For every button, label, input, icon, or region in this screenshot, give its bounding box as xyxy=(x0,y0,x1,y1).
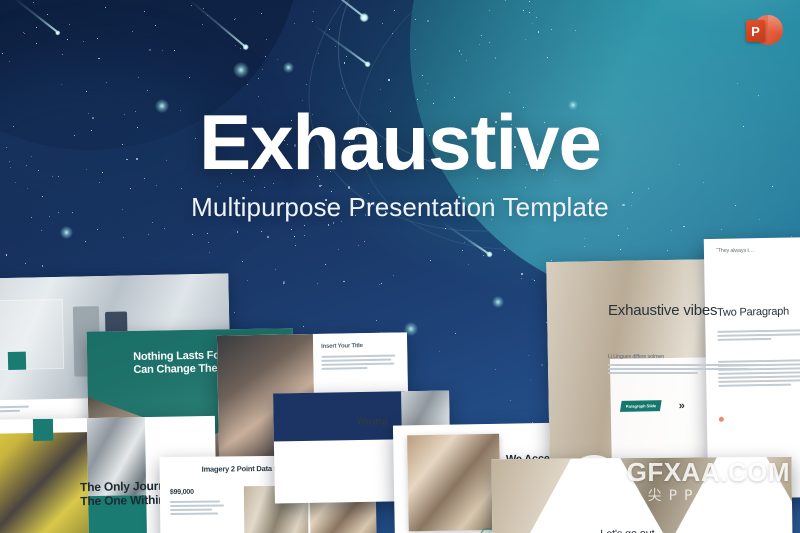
watermark-line-2: 贝尖PPT xyxy=(627,489,790,503)
watermark-line-1: GFXAA.COM xyxy=(627,459,790,485)
slide-body-lines xyxy=(608,364,758,376)
powerpoint-icon: P xyxy=(746,14,784,52)
slide-body-lines xyxy=(321,355,395,372)
watermark: GFXAA.COM 贝尖PPT xyxy=(568,455,790,507)
slide-subheading: Li Lingues differe solmen xyxy=(608,354,664,360)
slide-heading: Insert Your Title xyxy=(321,343,363,350)
slide-photo xyxy=(0,432,89,533)
page-title: Exhaustive xyxy=(0,104,800,180)
slide-heading: Young xyxy=(355,416,388,429)
slide-accent-block-1 xyxy=(33,419,53,441)
g-circle-icon xyxy=(568,455,620,507)
hero-block: Exhaustive Multipurpose Presentation Tem… xyxy=(0,104,800,223)
slide-heading: Exhaustive vibes xyxy=(608,302,728,320)
slide-photo xyxy=(407,434,501,532)
glow-star-4 xyxy=(60,226,73,239)
paragraph-slide-text: Exhaustive vibes Li Lingues differe solm… xyxy=(608,302,788,422)
powerpoint-tile: P xyxy=(746,20,765,42)
slide-quote-text: “They always t… xyxy=(716,248,754,254)
slide-heading: Let's go out xyxy=(600,528,654,533)
slide-body-lines xyxy=(0,406,29,415)
preview-canvas: P Exhaustive Multipurpose Presentation T… xyxy=(0,0,800,533)
glow-star-3 xyxy=(283,62,294,73)
slide-stat-value: $99,000 xyxy=(170,489,194,496)
page-subtitle: Multipurpose Presentation Template xyxy=(0,192,800,223)
glow-star-1 xyxy=(233,62,249,78)
watermark-text: GFXAA.COM 贝尖PPT xyxy=(627,459,790,503)
slide-body-lines xyxy=(170,500,224,517)
slide-logo-badge xyxy=(8,352,26,370)
powerpoint-letter: P xyxy=(746,20,765,42)
